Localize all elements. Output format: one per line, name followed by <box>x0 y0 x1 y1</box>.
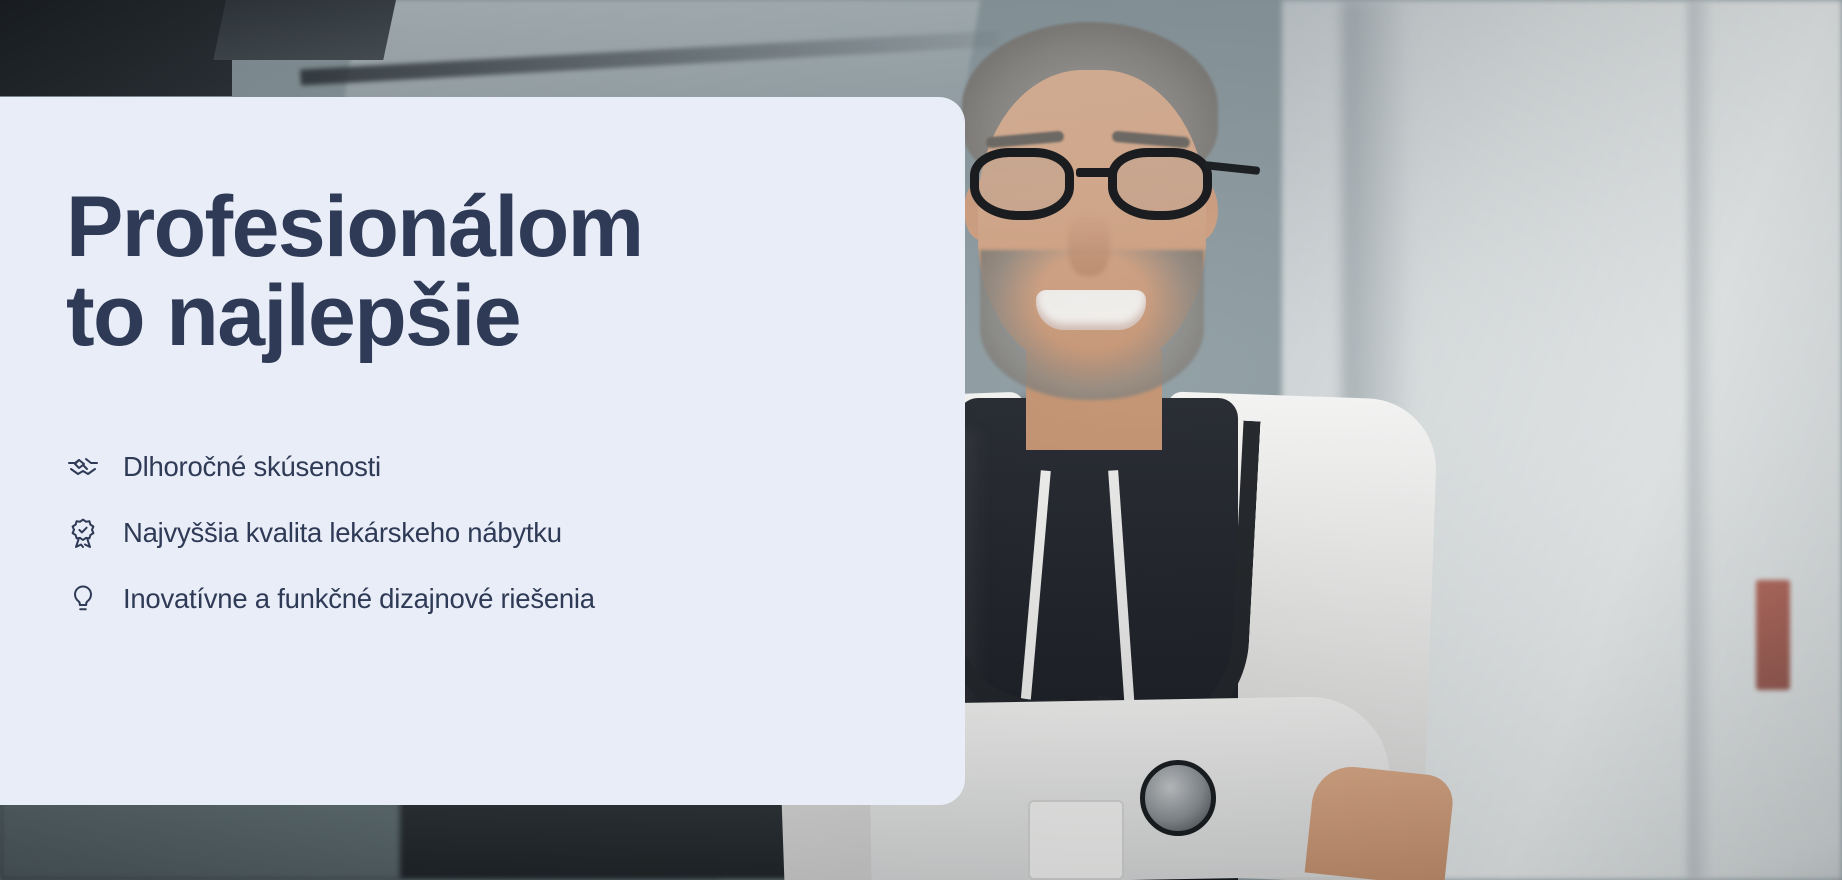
eyeglasses-icon <box>966 148 1218 224</box>
page-title: Profesionálom to najlepšie <box>66 183 886 362</box>
award-badge-icon <box>66 516 100 550</box>
ceiling-dark-slab-2 <box>213 0 396 60</box>
handshake-icon <box>66 450 100 484</box>
id-badge <box>1028 800 1124 880</box>
list-item: Dlhoročné skúsenosti <box>66 450 965 484</box>
feature-list: Dlhoročné skúsenosti Najvyššia kvalita l… <box>66 450 965 616</box>
stethoscope-chestpiece <box>1140 760 1216 836</box>
headline-line-2: to najlepšie <box>66 272 886 361</box>
door-frame <box>1688 0 1714 880</box>
lens-left <box>970 148 1074 220</box>
hero-banner: Profesionálom to najlepšie Dlhoročné skú… <box>0 0 1842 880</box>
list-item: Inovatívne a funkčné dizajnové riešenia <box>66 582 965 616</box>
hand <box>1305 763 1456 880</box>
list-item: Najvyššia kvalita lekárskeho nábytku <box>66 516 965 550</box>
wall-fixture <box>1756 580 1790 690</box>
headline-line-1: Profesionálom <box>66 183 886 272</box>
feature-label: Dlhoročné skúsenosti <box>123 451 381 483</box>
feature-label: Inovatívne a funkčné dizajnové riešenia <box>123 583 595 615</box>
feature-label: Najvyššia kvalita lekárskeho nábytku <box>123 517 562 549</box>
lightbulb-icon <box>66 582 100 616</box>
glasses-temple <box>1204 161 1261 175</box>
beard <box>980 250 1204 400</box>
lens-right <box>1108 148 1212 220</box>
glasses-bridge <box>1076 168 1112 177</box>
ceiling-dark-slab <box>0 0 232 96</box>
hero-text-card: Profesionálom to najlepšie Dlhoročné skú… <box>0 97 965 805</box>
